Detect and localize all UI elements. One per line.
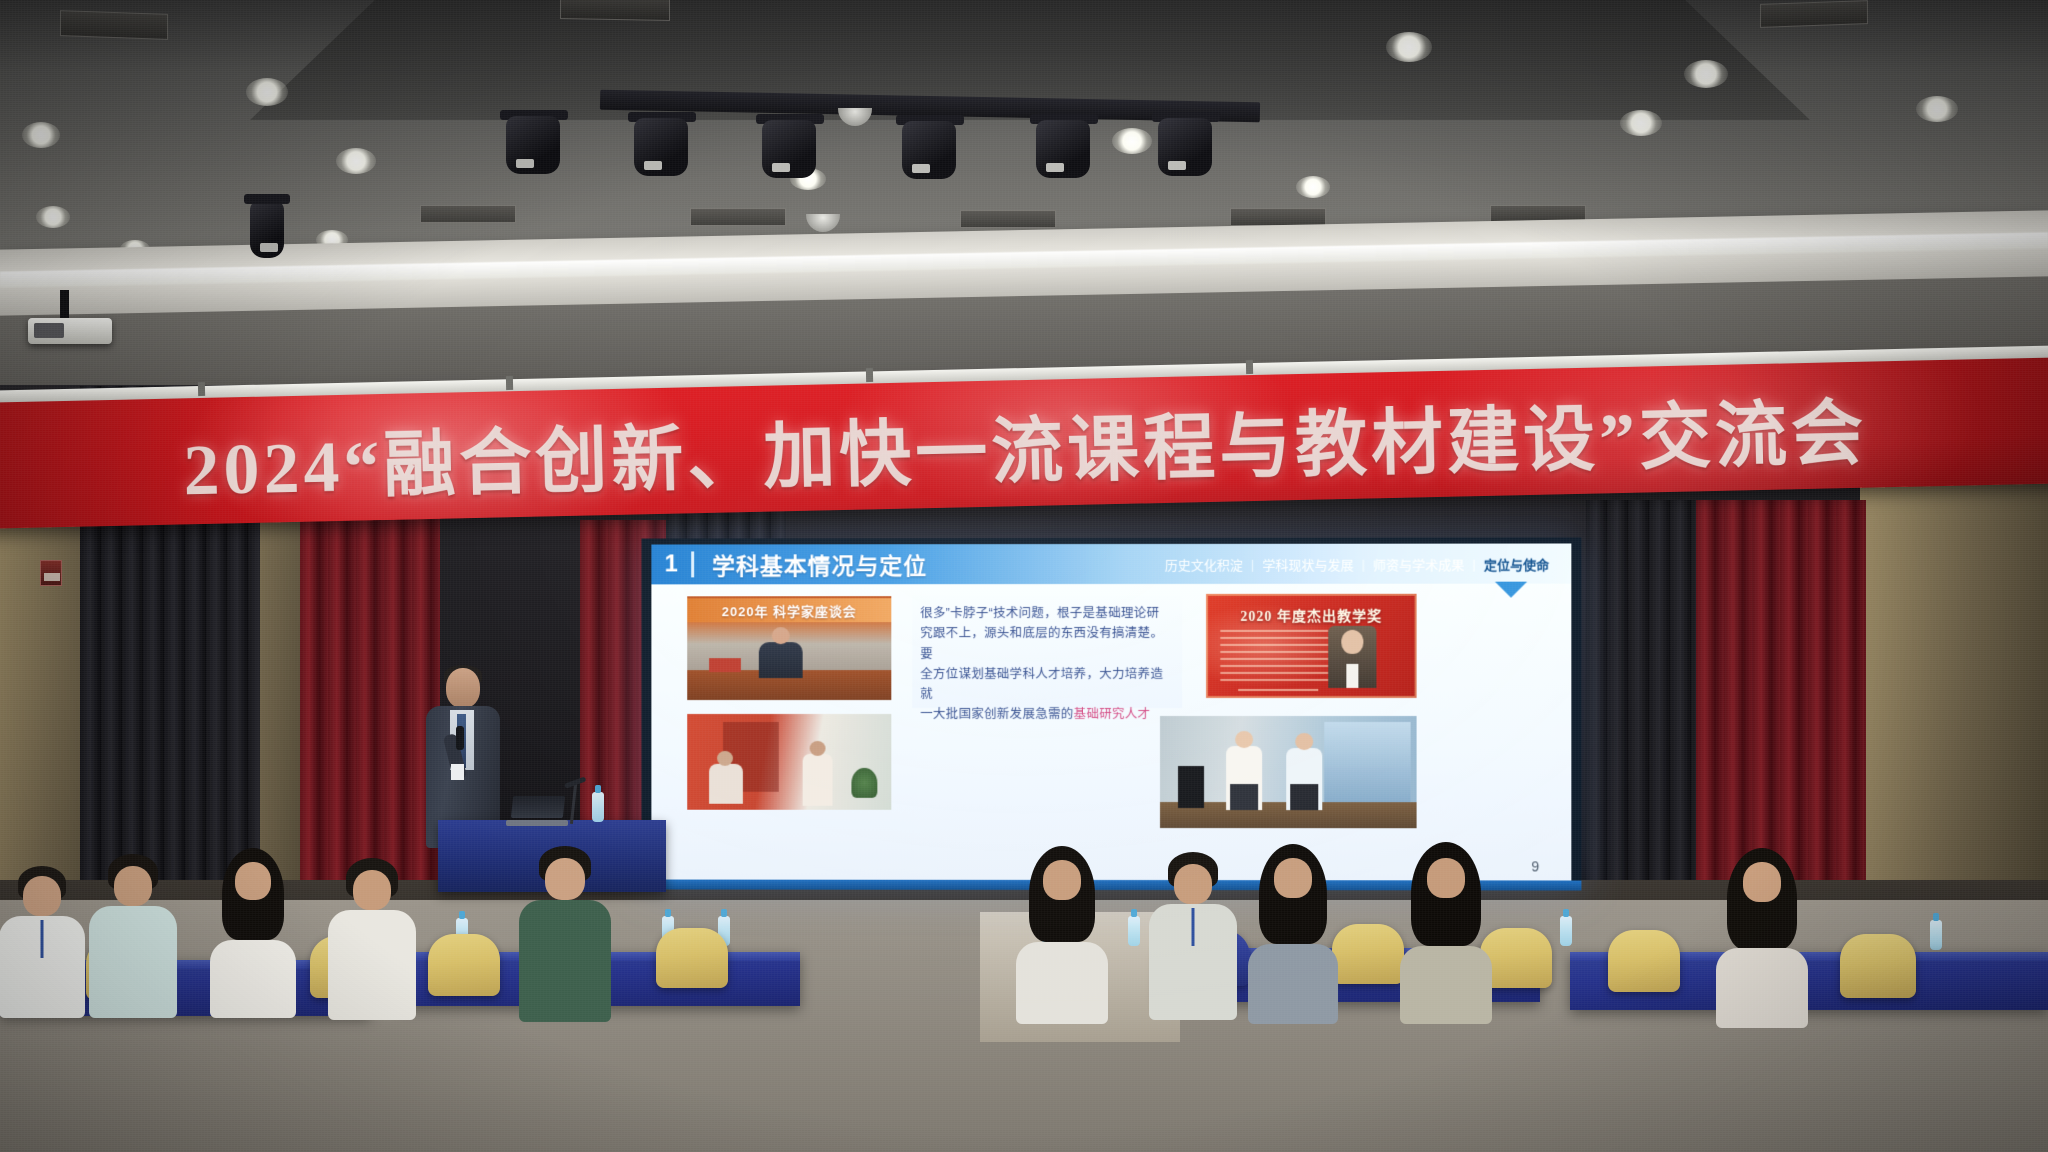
- ceiling-vent: [560, 0, 670, 21]
- ceiling-vent: [960, 210, 1056, 228]
- award-certificate-title: 2020 年度杰出教学奖: [1206, 606, 1417, 626]
- nav-item-mission[interactable]: 定位与使命: [1476, 554, 1557, 573]
- nav-item-status[interactable]: 学科现状与发展: [1254, 554, 1361, 573]
- audience-member: [1400, 842, 1492, 1022]
- audience-chair[interactable]: [656, 928, 728, 988]
- ceiling-downlight: [1684, 60, 1728, 88]
- photo-figure: [759, 642, 803, 678]
- audience-member: [0, 866, 84, 1016]
- nav-item-faculty[interactable]: 师资与学术成果: [1365, 554, 1472, 573]
- person-torso: [519, 900, 611, 1022]
- two-professors-photo: [1160, 716, 1417, 828]
- water-bottle-icon: [1930, 920, 1942, 950]
- slide-header: 1 学科基本情况与定位 历史文化积淀 | 学科现状与发展 | 师资与学术成果 |…: [651, 543, 1571, 584]
- award-signature: [1238, 689, 1318, 691]
- audience-chair[interactable]: [1608, 930, 1680, 992]
- nav-item-history[interactable]: 历史文化积淀: [1157, 554, 1251, 573]
- quote-line-4-plain: 一大批国家创新发展急需的: [920, 707, 1073, 721]
- slide-section-number: 1: [651, 544, 691, 584]
- person-head: [545, 858, 585, 900]
- photo-background-screen: [1324, 722, 1410, 806]
- photo-plant: [851, 768, 877, 798]
- lecture-photo: [687, 714, 891, 810]
- photo-speaker-box: [1178, 766, 1204, 808]
- person-torso: [1716, 948, 1808, 1028]
- ceiling-vent: [60, 10, 168, 40]
- par-light-icon: [1158, 118, 1212, 176]
- ceiling-downlight: [246, 78, 288, 106]
- person-torso: [1248, 944, 1338, 1024]
- ceiling-downlight: [1112, 128, 1152, 154]
- par-light-icon: [634, 118, 688, 176]
- photo-accent: [709, 658, 741, 672]
- nav-separator: |: [1472, 556, 1475, 571]
- audience-member: [1016, 846, 1108, 1022]
- quote-line-4: 一大批国家创新发展急需的基础研究人才: [920, 704, 1174, 724]
- wall-wood-panel: [1860, 440, 2048, 920]
- par-light-icon: [1036, 120, 1090, 178]
- person-head: [235, 862, 271, 900]
- photo-person: [1286, 748, 1322, 810]
- laptop-icon: [506, 796, 566, 822]
- water-bottle-icon: [1128, 916, 1140, 946]
- par-light-icon: [902, 121, 956, 179]
- person-torso: [89, 906, 177, 1018]
- slide-quote-block: 很多”卡脖子“技术问题，根子是基础理论研 究跟不上，源头和底层的东西没有搞清楚。…: [912, 596, 1182, 708]
- audience-member: [1150, 852, 1236, 1018]
- quote-line-4-highlight: 基础研究人才: [1074, 707, 1151, 721]
- projection-screen: 1 学科基本情况与定位 历史文化积淀 | 学科现状与发展 | 师资与学术成果 |…: [641, 537, 1581, 890]
- par-light-icon: [762, 120, 816, 178]
- audience-chair[interactable]: [1840, 934, 1916, 998]
- audience-chair[interactable]: [1332, 924, 1404, 984]
- banner-clip: [198, 382, 205, 396]
- par-yoke: [244, 194, 290, 204]
- person-torso: [210, 940, 296, 1018]
- person-torso: [1400, 946, 1492, 1024]
- slide-section-nav: 历史文化积淀 | 学科现状与发展 | 师资与学术成果 | 定位与使命: [1157, 554, 1572, 573]
- handheld-microphone-icon: [456, 726, 464, 750]
- photo-person: [709, 764, 743, 804]
- person-head: [1427, 858, 1465, 898]
- person-head: [114, 866, 152, 906]
- slide-body: 2020年 科学家座谈会 很多”卡脖子“技术问题，根子是基础理论研 究跟不上，源…: [651, 588, 1571, 883]
- presenter-head: [446, 668, 480, 708]
- photo-person: [803, 754, 833, 806]
- presentation-slide: 1 学科基本情况与定位 历史文化积淀 | 学科现状与发展 | 师资与学术成果 |…: [651, 543, 1571, 882]
- quote-line-1: 很多”卡脖子“技术问题，根子是基础理论研: [920, 603, 1174, 623]
- ceiling-downlight: [36, 206, 70, 228]
- symposium-photo-caption-bar: 2020年 科学家座谈会: [687, 598, 891, 622]
- ceiling-downlight: [22, 122, 60, 148]
- banner-clip: [866, 368, 873, 382]
- ceiling-downlight: [336, 148, 376, 174]
- quote-line-3: 全方位谋划基础学科人才培养，大力培养造就: [920, 664, 1174, 705]
- person-head: [1043, 860, 1081, 900]
- ceiling-downlight: [1296, 176, 1330, 198]
- lanyard: [1192, 908, 1195, 946]
- person-torso: [328, 910, 416, 1020]
- stage-black-drape: [1586, 500, 1696, 900]
- person-head: [1743, 862, 1781, 902]
- fire-alarm-icon: [40, 560, 62, 586]
- symposium-photo: 2020年 科学家座谈会: [687, 596, 891, 700]
- slide-title: 学科基本情况与定位: [694, 547, 945, 581]
- par-light-icon: [506, 116, 560, 174]
- symposium-photo-caption: 2020年 科学家座谈会: [722, 601, 857, 620]
- audience-member: [1248, 844, 1338, 1022]
- audience-member: [520, 846, 610, 1020]
- audience-member: [90, 854, 176, 1016]
- person-head: [353, 870, 391, 910]
- audience-member: [330, 858, 414, 1018]
- audience-chair[interactable]: [428, 934, 500, 996]
- presenter-badge: [451, 764, 464, 780]
- photo-person: [1226, 746, 1262, 810]
- slide-page-number: 9: [1531, 858, 1539, 874]
- ceiling-vent: [420, 205, 516, 223]
- person-head: [1174, 864, 1212, 904]
- water-bottle-icon: [592, 792, 604, 822]
- ceiling-projector-icon: [28, 318, 112, 344]
- award-portrait: [1328, 626, 1376, 688]
- award-certificate-text-lines: [1220, 630, 1328, 686]
- banner-clip: [506, 376, 513, 390]
- ceiling-vent: [1760, 0, 1868, 28]
- person-torso: [1016, 942, 1108, 1024]
- water-bottle-icon: [1560, 916, 1572, 946]
- conference-hall-photo: 2024“融合创新、加快一流课程与教材建设”交流会 1 学科基本情况与定位 历史…: [0, 0, 2048, 1152]
- ceiling-downlight: [1386, 32, 1432, 62]
- ceiling-vent: [690, 208, 786, 226]
- par-light-icon: [250, 200, 284, 258]
- ceiling-downlight: [1916, 96, 1958, 122]
- quote-line-2: 究跟不上，源头和底层的东西没有搞清楚。要: [920, 623, 1174, 664]
- audience-member: [1716, 848, 1808, 1024]
- ceiling-downlight: [1620, 110, 1662, 136]
- ceiling-vent: [1230, 208, 1326, 226]
- stage-red-curtain: [300, 500, 440, 906]
- banner-clip: [1246, 360, 1253, 374]
- audience-member: [210, 848, 296, 1016]
- lanyard: [41, 920, 44, 958]
- person-head: [1274, 858, 1312, 898]
- person-head: [23, 876, 61, 916]
- award-certificate-photo: 2020 年度杰出教学奖: [1206, 594, 1417, 698]
